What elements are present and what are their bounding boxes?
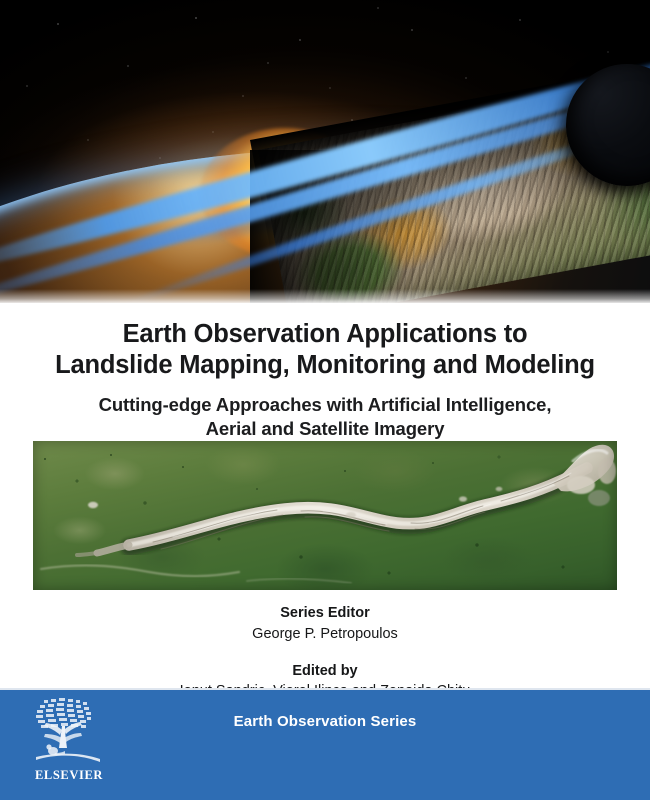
- book-title: Earth Observation Applications to Landsl…: [0, 319, 650, 381]
- publisher-footer: ELSEVIER Earth Observation Series: [0, 688, 650, 800]
- book-title-line-2: Landslide Mapping, Monitoring and Modeli…: [26, 350, 624, 381]
- aerial-debris-flow-landslide-photo: [33, 441, 617, 590]
- series-name-label: Earth Observation Series: [0, 713, 650, 730]
- title-block: Earth Observation Applications to Landsl…: [0, 303, 650, 440]
- landslide-scar-icon: [33, 441, 617, 590]
- elsevier-tree-logo-icon: ELSEVIER: [28, 696, 110, 790]
- book-title-line-1: Earth Observation Applications to: [26, 319, 624, 350]
- book-cover: Earth Observation Applications to Landsl…: [0, 0, 650, 800]
- elsevier-wordmark: ELSEVIER: [28, 768, 110, 783]
- credits-spacer: [0, 644, 650, 662]
- series-editor-label: Series Editor: [0, 604, 650, 624]
- edited-by-label: Edited by: [0, 662, 650, 682]
- series-editor-name: George P. Petropoulos: [0, 624, 650, 644]
- book-subtitle-line-2: Aerial and Satellite Imagery: [34, 417, 616, 440]
- book-subtitle-line-1: Cutting-edge Approaches with Artificial …: [34, 393, 616, 416]
- hero-artwork: [0, 0, 650, 303]
- footer-top-rule: [0, 688, 650, 690]
- book-subtitle: Cutting-edge Approaches with Artificial …: [0, 393, 650, 440]
